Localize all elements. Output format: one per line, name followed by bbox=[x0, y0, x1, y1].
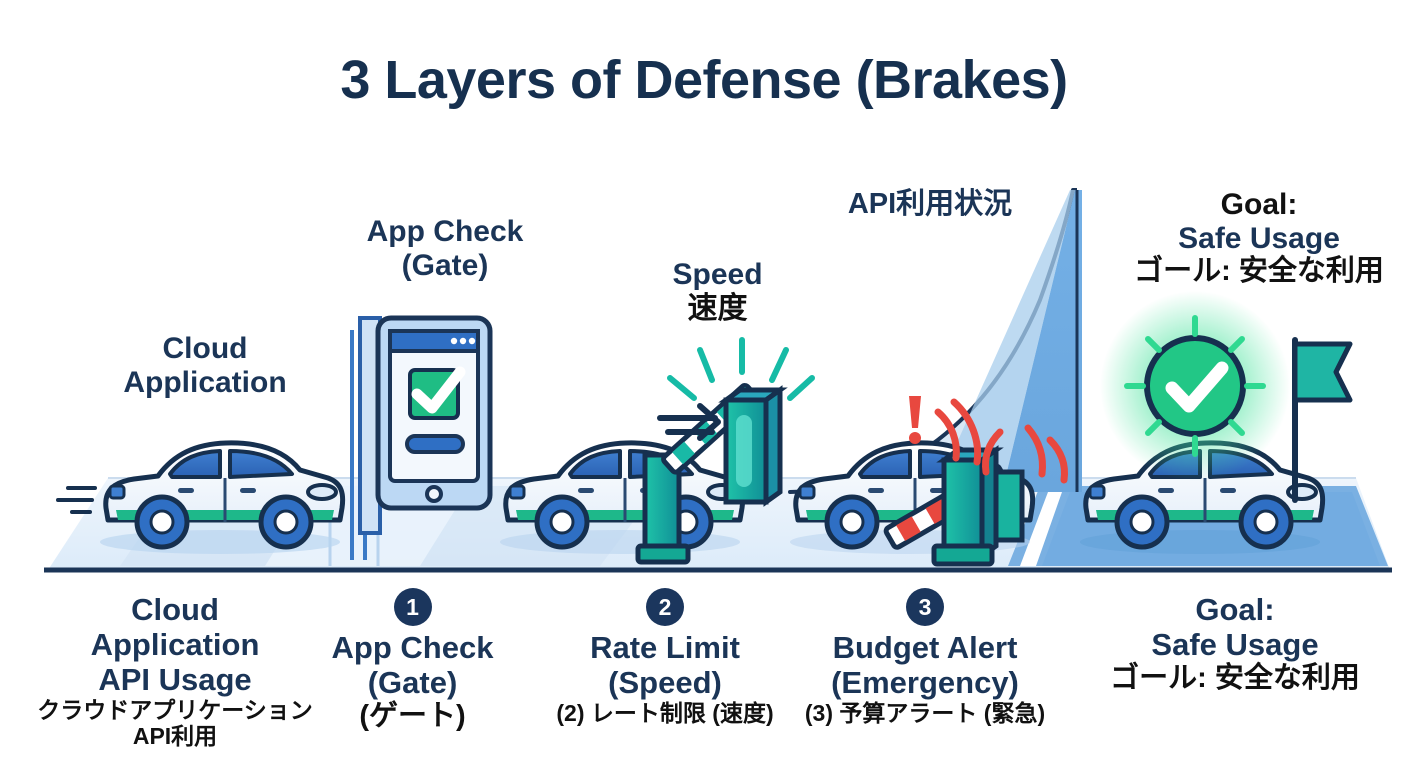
caption-1-jp-0: (ゲート) bbox=[295, 700, 530, 733]
caption-budget-alert: 3 Budget Alert (Emergency) (3) 予算アラート (緊… bbox=[790, 588, 1060, 726]
label-api-usage-jp: API利用状況 bbox=[790, 188, 1070, 220]
caption-0-jp-1: API利用 bbox=[20, 723, 330, 749]
label-goal-word: Goal: bbox=[1110, 188, 1408, 222]
label-speed-en: Speed bbox=[610, 258, 825, 292]
caption-3-jp-0: (3) 予算アラート (緊急) bbox=[790, 700, 1060, 726]
label-speed-jp: 速度 bbox=[610, 292, 825, 326]
caption-4-en-1: Safe Usage bbox=[1070, 627, 1400, 662]
caption-3-en-0: Budget Alert bbox=[790, 630, 1060, 665]
caption-2-en-1: (Speed) bbox=[540, 665, 790, 700]
label-api-usage: API利用状況 bbox=[790, 188, 1070, 220]
label-goal-safe-usage: Safe Usage bbox=[1110, 222, 1408, 256]
infographic-canvas: 3 Layers of Defense (Brakes) Cloud Appli… bbox=[0, 0, 1408, 768]
caption-0-jp-0: クラウドアプリケーション bbox=[20, 697, 330, 723]
caption-1-en-1: (Gate) bbox=[295, 665, 530, 700]
page-title: 3 Layers of Defense (Brakes) bbox=[0, 52, 1408, 109]
label-goal-top: Goal: Safe Usage ゴール: 安全な利用 bbox=[1110, 188, 1408, 288]
caption-app-check: 1 App Check (Gate) (ゲート) bbox=[295, 588, 530, 733]
caption-2-en-0: Rate Limit bbox=[540, 630, 790, 665]
step-badge-2: 2 bbox=[646, 588, 684, 626]
label-cloud-application: Cloud Application bbox=[60, 332, 350, 399]
step-badge-1: 1 bbox=[394, 588, 432, 626]
label-cloud-line2: Application bbox=[60, 366, 350, 400]
caption-cloud-application: Cloud Application API Usage クラウドアプリケーション… bbox=[20, 592, 330, 749]
car-rate-limit bbox=[500, 443, 743, 554]
label-speed: Speed 速度 bbox=[610, 258, 825, 325]
check-circle-icon bbox=[1100, 291, 1290, 481]
caption-0-en-1: Application bbox=[20, 627, 330, 662]
caption-goal: Goal: Safe Usage ゴール: 安全な利用 bbox=[1070, 592, 1400, 695]
caption-3-en-1: (Emergency) bbox=[790, 665, 1060, 700]
label-goal-jp: ゴール: 安全な利用 bbox=[1110, 255, 1408, 287]
app-check-tablet bbox=[360, 318, 490, 533]
caption-0-en-2: API Usage bbox=[20, 662, 330, 697]
label-app-check: App Check (Gate) bbox=[300, 215, 590, 282]
caption-4-en-0: Goal: bbox=[1070, 592, 1400, 627]
caption-0-en-0: Cloud bbox=[20, 592, 330, 627]
caption-4-jp-0: ゴール: 安全な利用 bbox=[1070, 662, 1400, 695]
label-cloud-line1: Cloud bbox=[60, 332, 350, 366]
exclamation-icon bbox=[909, 396, 921, 444]
label-appcheck-line1: App Check bbox=[300, 215, 590, 249]
step-badge-3: 3 bbox=[906, 588, 944, 626]
caption-1-en-0: App Check bbox=[295, 630, 530, 665]
caption-rate-limit: 2 Rate Limit (Speed) (2) レート制限 (速度) bbox=[540, 588, 790, 726]
caption-2-jp-0: (2) レート制限 (速度) bbox=[540, 700, 790, 726]
label-appcheck-line2: (Gate) bbox=[300, 249, 590, 283]
